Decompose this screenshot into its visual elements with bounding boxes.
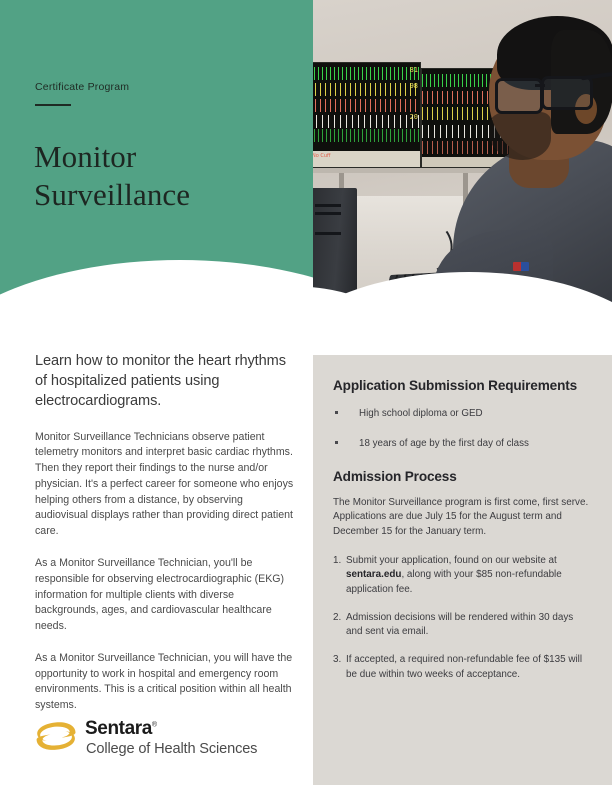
page-title: Monitor Surveillance xyxy=(34,138,294,214)
body-paragraph-3: As a Monitor Surveillance Technician, yo… xyxy=(35,651,297,714)
sentara-edu-link[interactable]: sentara.edu xyxy=(346,569,401,580)
body-paragraph-2: As a Monitor Surveillance Technician, yo… xyxy=(35,556,297,635)
body-paragraph-1: Monitor Surveillance Technicians observe… xyxy=(35,430,297,540)
kicker-divider-rule xyxy=(35,104,71,106)
ekg-waveform-yellow xyxy=(313,83,420,96)
step-text: If accepted, a required non-refundable f… xyxy=(346,654,582,680)
ekg-waveform-green xyxy=(313,67,420,80)
step-text-before: Submit your application, found on our we… xyxy=(346,555,557,566)
admissions-panel-content: Application Submission Requirements High… xyxy=(333,377,591,695)
step-number: 3. xyxy=(333,653,341,668)
program-type-kicker: Certificate Program xyxy=(35,81,129,93)
vitals-readout: 98 xyxy=(410,82,418,90)
list-item: 1. Submit your application, found on our… xyxy=(333,554,591,598)
hero-photo: 81 98 20 No Cuff xyxy=(313,0,612,322)
telemetry-monitor-left: 81 98 20 No Cuff xyxy=(313,62,421,168)
requirement-text: 18 years of age by the first day of clas… xyxy=(359,438,529,449)
admissions-panel: Application Submission Requirements High… xyxy=(313,355,612,785)
ekg-waveform-white xyxy=(313,115,420,128)
list-item: 18 years of age by the first day of clas… xyxy=(333,437,591,451)
ekg-waveform-green-2 xyxy=(313,129,420,142)
list-item: High school diploma or GED xyxy=(333,407,591,421)
admission-process-heading: Admission Process xyxy=(333,469,591,484)
requirements-list: High school diploma or GED 18 years of a… xyxy=(333,407,591,450)
left-content-column: Learn how to monitor the heart rhythms o… xyxy=(35,352,297,714)
list-item: 2. Admission decisions will be rendered … xyxy=(333,611,591,640)
vitals-readout: 20 xyxy=(410,113,418,121)
admission-intro-paragraph: The Monitor Surveillance program is firs… xyxy=(333,496,591,540)
logo-wordmark: Sentara® xyxy=(85,718,157,740)
monitor-alert-text: No Cuff xyxy=(313,153,331,159)
sentara-logo: Sentara® College of Health Sciences xyxy=(35,718,297,768)
logo-wordmark-text: Sentara xyxy=(85,718,152,739)
ekg-waveform-red xyxy=(313,99,420,112)
step-number: 1. xyxy=(333,554,341,569)
requirement-text: High school diploma or GED xyxy=(359,408,483,419)
requirements-heading: Application Submission Requirements xyxy=(333,377,591,394)
sentara-swoosh-icon xyxy=(35,720,77,752)
lead-paragraph: Learn how to monitor the heart rhythms o… xyxy=(35,352,297,412)
step-number: 2. xyxy=(333,611,341,626)
uniform-badge xyxy=(513,262,529,271)
bullet-icon xyxy=(335,411,338,414)
brochure-page: 81 98 20 No Cuff xyxy=(0,0,612,792)
hero-section: 81 98 20 No Cuff xyxy=(0,0,612,330)
eyeglasses-bridge xyxy=(535,84,545,87)
logo-subtitle: College of Health Sciences xyxy=(86,741,257,757)
registered-trademark-symbol: ® xyxy=(152,722,157,729)
eyeglasses-lens-right xyxy=(541,76,593,110)
green-wave-mask xyxy=(0,260,313,312)
step-text: Admission decisions will be rendered wit… xyxy=(346,612,573,638)
list-item: 3. If accepted, a required non-refundabl… xyxy=(333,653,591,682)
bullet-icon xyxy=(335,441,338,444)
vitals-readout: 81 xyxy=(410,66,418,74)
